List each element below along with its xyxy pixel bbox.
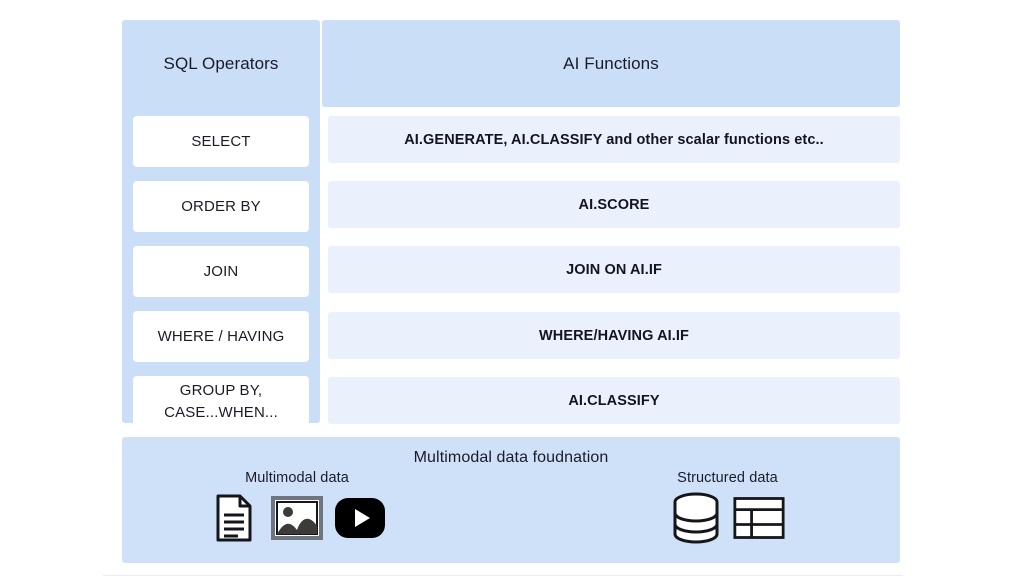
foundation-title: Multimodal data foudnation [122,449,900,467]
ai-functions-header: AI Functions [322,20,900,107]
video-play-icon [334,492,386,544]
sql-operator-group-by-case-when[interactable]: GROUP BY,CASE...WHEN... [133,376,309,427]
multimodal-data-foundation-panel: Multimodal data foudnation Multimodal da… [122,437,900,563]
ai-function-where-having-ai-if[interactable]: WHERE/HAVING AI.IF [328,312,900,359]
ai-function-scalar-functions[interactable]: AI.GENERATE, AI.CLASSIFY and other scala… [328,116,900,163]
sql-operators-panel: SQL Operators SELECT ORDER BY JOIN WHERE… [122,20,320,423]
diagram-canvas: SQL Operators SELECT ORDER BY JOIN WHERE… [0,0,1024,585]
ai-function-label: WHERE/HAVING AI.IF [539,328,689,344]
ai-function-ai-score[interactable]: AI.SCORE [328,181,900,228]
sql-operator-label: JOIN [204,261,239,282]
sql-operator-label: SELECT [191,131,250,152]
structured-data-group: Structured data [670,470,785,544]
document-icon [208,492,260,544]
sql-operator-label: WHERE / HAVING [158,326,285,347]
ai-function-join-on-ai-if[interactable]: JOIN ON AI.IF [328,246,900,293]
ai-function-label: AI.CLASSIFY [568,393,659,409]
ai-functions-title: AI Functions [563,54,659,74]
database-icon [670,492,722,544]
sql-operator-label: ORDER BY [181,196,261,217]
ai-function-label: JOIN ON AI.IF [566,262,662,278]
sql-operator-order-by[interactable]: ORDER BY [133,181,309,232]
structured-data-label: Structured data [670,470,785,486]
sql-operator-where-having[interactable]: WHERE / HAVING [133,311,309,362]
sql-operators-title: SQL Operators [122,20,320,107]
bottom-divider [103,575,903,576]
ai-function-label: AI.SCORE [579,197,650,213]
sql-operator-join[interactable]: JOIN [133,246,309,297]
ai-function-ai-classify[interactable]: AI.CLASSIFY [328,377,900,424]
sql-operator-label: GROUP BY,CASE...WHEN... [164,380,278,423]
multimodal-data-label: Multimodal data [208,470,386,486]
sql-operator-select[interactable]: SELECT [133,116,309,167]
multimodal-data-group: Multimodal data [208,470,386,544]
multimodal-data-icons [208,492,386,544]
image-icon [271,492,323,544]
ai-function-label: AI.GENERATE, AI.CLASSIFY and other scala… [404,132,824,148]
structured-data-icons [670,492,785,544]
table-icon [733,492,785,544]
